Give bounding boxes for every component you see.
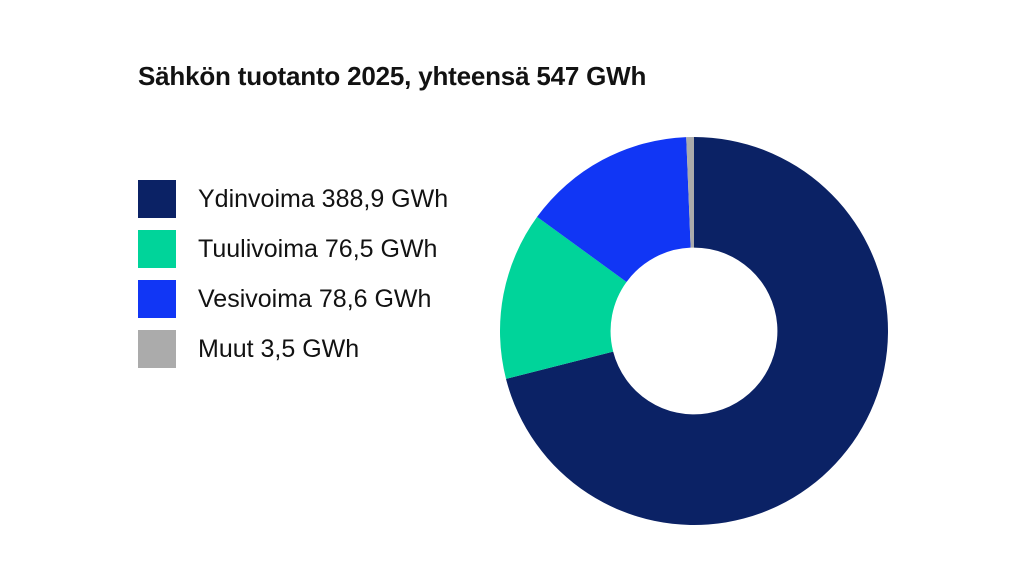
legend-swatch-vesivoima	[138, 280, 176, 318]
legend-label-ydinvoima: Ydinvoima 388,9 GWh	[198, 187, 448, 212]
page-title: Sähkön tuotanto 2025, yhteensä 547 GWh	[138, 61, 646, 92]
legend-swatch-muut	[138, 330, 176, 368]
donut-chart	[500, 137, 888, 525]
legend-item-tuulivoima[interactable]: Tuulivoima 76,5 GWh	[138, 230, 498, 268]
legend-item-ydinvoima[interactable]: Ydinvoima 388,9 GWh	[138, 180, 498, 218]
legend-item-vesivoima[interactable]: Vesivoima 78,6 GWh	[138, 280, 498, 318]
chart-legend: Ydinvoima 388,9 GWh Tuulivoima 76,5 GWh …	[138, 180, 498, 380]
legend-swatch-ydinvoima	[138, 180, 176, 218]
legend-item-muut[interactable]: Muut 3,5 GWh	[138, 330, 498, 368]
legend-swatch-tuulivoima	[138, 230, 176, 268]
legend-label-tuulivoima: Tuulivoima 76,5 GWh	[198, 237, 437, 262]
legend-label-muut: Muut 3,5 GWh	[198, 337, 359, 362]
chart-figure: Sähkön tuotanto 2025, yhteensä 547 GWh Y…	[0, 0, 1024, 580]
donut-slice-group	[500, 137, 888, 525]
legend-label-vesivoima: Vesivoima 78,6 GWh	[198, 287, 431, 312]
donut-chart-svg	[500, 137, 888, 525]
